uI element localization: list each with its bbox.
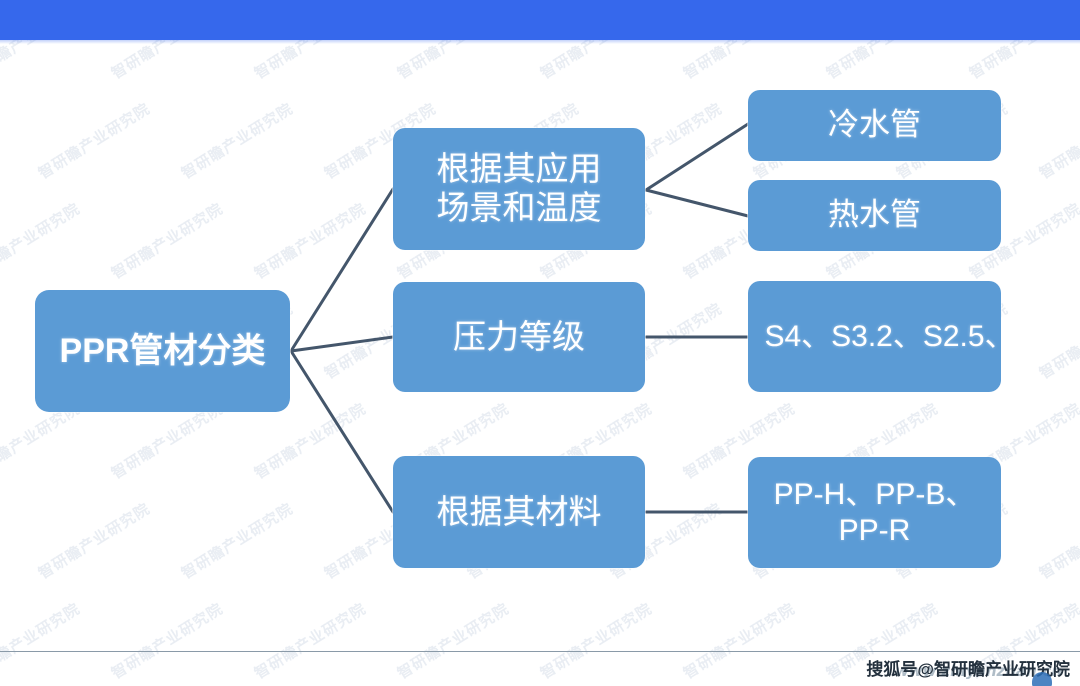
slide-canvas: 智研瞻产业研究院智研瞻产业研究院智研瞻产业研究院智研瞻产业研究院智研瞻产业研究院… (0, 0, 1080, 686)
node-branch-material[interactable]: 根据其材料 (393, 456, 645, 568)
node-leaf-1-label: 冷水管 (826, 107, 923, 144)
node-branch-1-line2: 场景和温度 (437, 188, 602, 227)
link-branch-1-to-leaf-2 (646, 190, 748, 216)
mouse-cursor-icon (1032, 672, 1052, 686)
node-branch-3-label: 根据其材料 (435, 493, 604, 532)
header-bar (0, 0, 1080, 40)
header-shadow (0, 40, 1080, 44)
node-branch-1-line1: 根据其应用 (437, 149, 602, 188)
node-branch-2-label: 压力等级 (451, 318, 587, 357)
footer-divider (0, 651, 1080, 652)
link-root-to-branch-2 (291, 337, 393, 351)
node-leaf-pressure-series[interactable]: S5、S4、S3.2、S2.5、S2 (748, 281, 1001, 392)
link-root-to-branch-3 (291, 351, 393, 512)
link-root-to-branch-1 (291, 189, 393, 351)
node-leaf-4-label: PP-H、PP-B、PP-R (748, 477, 1001, 548)
node-branch-1-label: 根据其应用 场景和温度 (435, 150, 604, 228)
node-leaf-3-label: S5、S4、S3.2、S2.5、S2 (748, 319, 1001, 354)
node-branch-pressure-rating[interactable]: 压力等级 (393, 282, 645, 392)
node-root-label: PPR管材分类 (58, 331, 268, 371)
link-branch-1-to-leaf-1 (646, 124, 748, 190)
node-leaf-2-label: 热水管 (826, 197, 923, 234)
node-branch-application-scene[interactable]: 根据其应用 场景和温度 (393, 128, 645, 250)
node-root[interactable]: PPR管材分类 (35, 290, 290, 412)
node-leaf-hot-water-pipe[interactable]: 热水管 (748, 180, 1001, 251)
node-leaf-material-types[interactable]: PP-H、PP-B、PP-R (748, 457, 1001, 568)
node-leaf-cold-water-pipe[interactable]: 冷水管 (748, 90, 1001, 161)
